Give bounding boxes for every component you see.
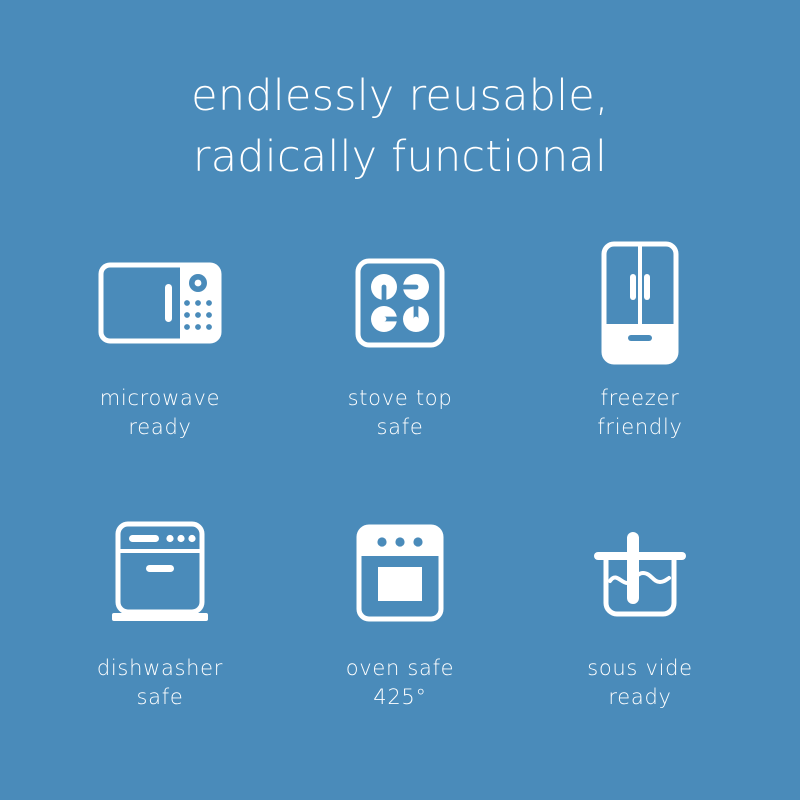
oven-icon-wrap [356,505,444,640]
promo-graphic: endlessly reusable, radically functional [0,0,800,800]
page-title: endlessly reusable, radically functional [0,66,800,188]
feature-grid: microwave ready [40,235,760,720]
caption-line-2: ready [587,683,693,712]
caption-line-2: safe [97,683,223,712]
stove-top-icon [355,258,445,348]
feature-caption: freezer friendly [597,384,682,442]
feature-caption: sous vide ready [587,654,693,712]
feature-caption: oven safe 425° [346,654,455,712]
sous-vide-icon-wrap [589,505,691,640]
feature-dishwasher: dishwasher safe [40,505,280,720]
caption-line-2: safe [348,413,453,442]
freezer-icon-wrap [601,235,679,370]
feature-sous-vide: sous vide ready [520,505,760,720]
dishwasher-icon-wrap [109,505,211,640]
caption-line-2: 425° [346,683,455,712]
sous-vide-icon [589,523,691,623]
microwave-icon-wrap [98,235,222,370]
feature-caption: microwave ready [100,384,221,442]
feature-oven: oven safe 425° [280,505,520,720]
caption-line-1: sous vide [587,654,693,683]
headline-line-1: endlessly reusable, [0,66,800,127]
headline-line-2: radically functional [0,127,800,188]
burner-top-left [371,274,397,301]
feature-freezer: freezer friendly [520,235,760,450]
caption-line-1: freezer [597,384,682,413]
caption-line-1: stove top [348,384,453,413]
feature-microwave: microwave ready [40,235,280,450]
stove-top-icon-wrap [355,235,445,370]
freezer-icon [601,241,679,365]
feature-stove-top: stove top safe [280,235,520,450]
feature-caption: dishwasher safe [97,654,223,712]
oven-icon [356,524,444,622]
dishwasher-icon [109,521,211,625]
feature-caption: stove top safe [348,384,453,442]
burner-bottom-right [403,305,429,332]
caption-line-2: friendly [597,413,682,442]
microwave-icon [98,262,222,344]
burner-top-right [402,274,429,300]
caption-line-2: ready [100,413,221,442]
caption-line-1: microwave [100,384,221,413]
caption-line-1: oven safe [346,654,455,683]
caption-line-1: dishwasher [97,654,223,683]
burner-bottom-left [371,306,398,332]
